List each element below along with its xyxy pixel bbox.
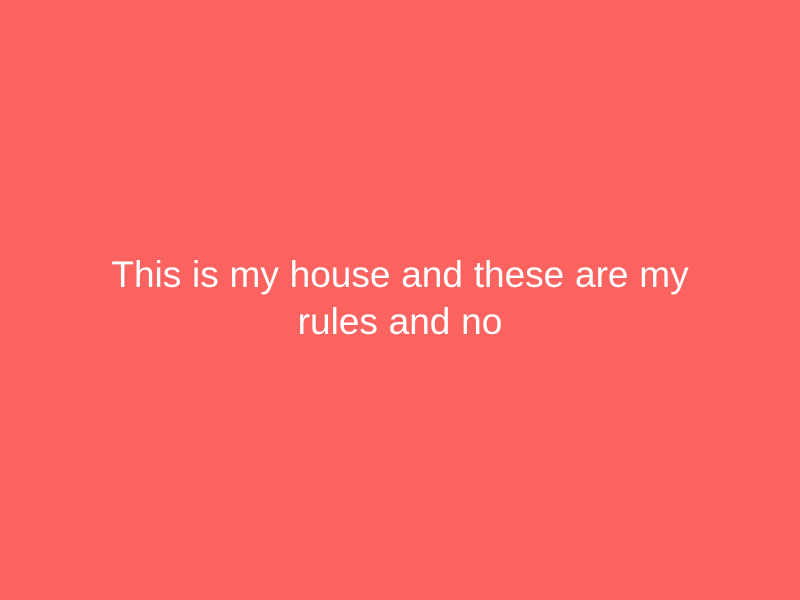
quote-block: This is my house and these are my rules … xyxy=(70,251,730,345)
quote-card: This is my house and these are my rules … xyxy=(0,0,800,600)
quote-text: This is my house and these are my rules … xyxy=(70,251,730,345)
